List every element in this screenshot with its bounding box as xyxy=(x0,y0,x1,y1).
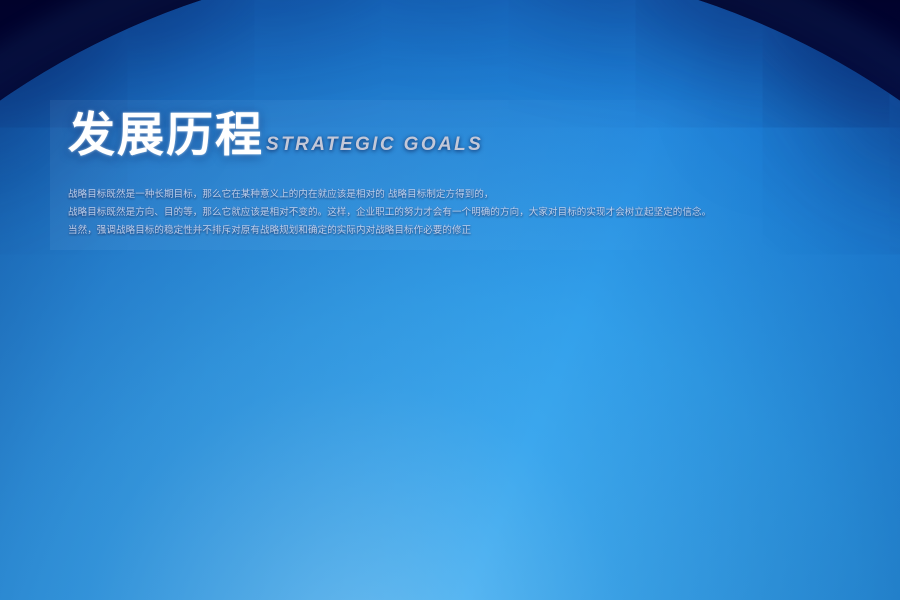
body-line: 战略目标既然是一种长期目标，那么它在某种意义上的内在就应该是相对的 战略目标制定… xyxy=(68,186,728,204)
page-subtitle: STRATEGIC GOALS xyxy=(266,134,483,156)
body-line: 当然，强调战略目标的稳定性并不排斥对原有战略规划和确定的实际内对战略目标作必要的… xyxy=(68,222,728,240)
banner-stage: 发展历程 STRATEGIC GOALS 战略目标既然是一种长期目标，那么它在某… xyxy=(0,0,900,600)
banner-heading-group: 发展历程 STRATEGIC GOALS xyxy=(68,112,483,159)
banner-body-copy: 战略目标既然是一种长期目标，那么它在某种意义上的内在就应该是相对的 战略目标制定… xyxy=(68,186,728,240)
page-title: 发展历程 xyxy=(68,112,264,159)
body-line: 战略目标既然是方向、目的等，那么它就应该是相对不变的。这样，企业职工的努力才会有… xyxy=(68,204,728,222)
